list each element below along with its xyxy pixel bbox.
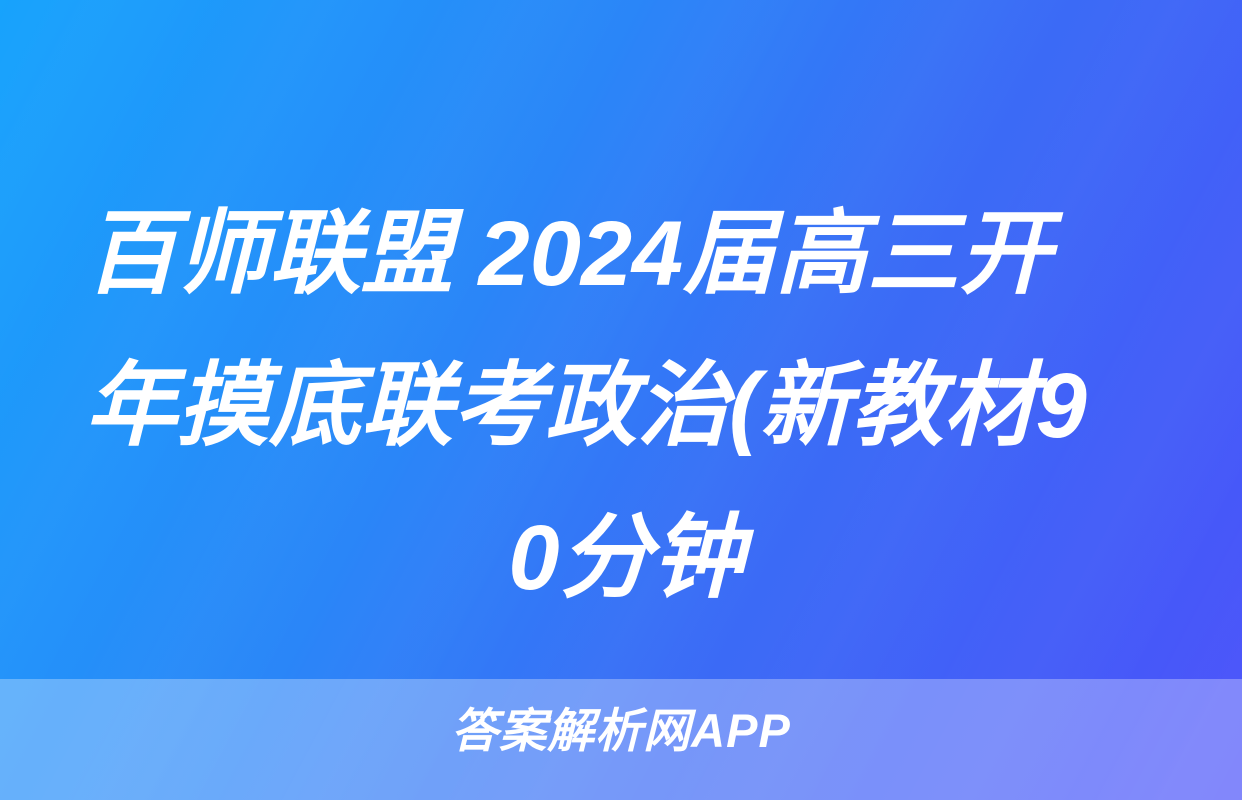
poster-title-line-2: 年摸底联考政治(新教材9 [85, 330, 1167, 482]
poster-title: 百师联盟 2024届高三开 年摸底联考政治(新教材9 0分钟 [85, 178, 1167, 634]
watermark-label: 答案解析网APP [451, 703, 791, 759]
poster-cover: 百师联盟 2024届高三开 年摸底联考政治(新教材9 0分钟 答案解析网APP [0, 0, 1242, 800]
watermark: 答案解析网APP [0, 703, 1242, 759]
poster-title-line-1: 百师联盟 2024届高三开 [85, 178, 1167, 330]
poster-title-line-3: 0分钟 [85, 482, 1167, 634]
